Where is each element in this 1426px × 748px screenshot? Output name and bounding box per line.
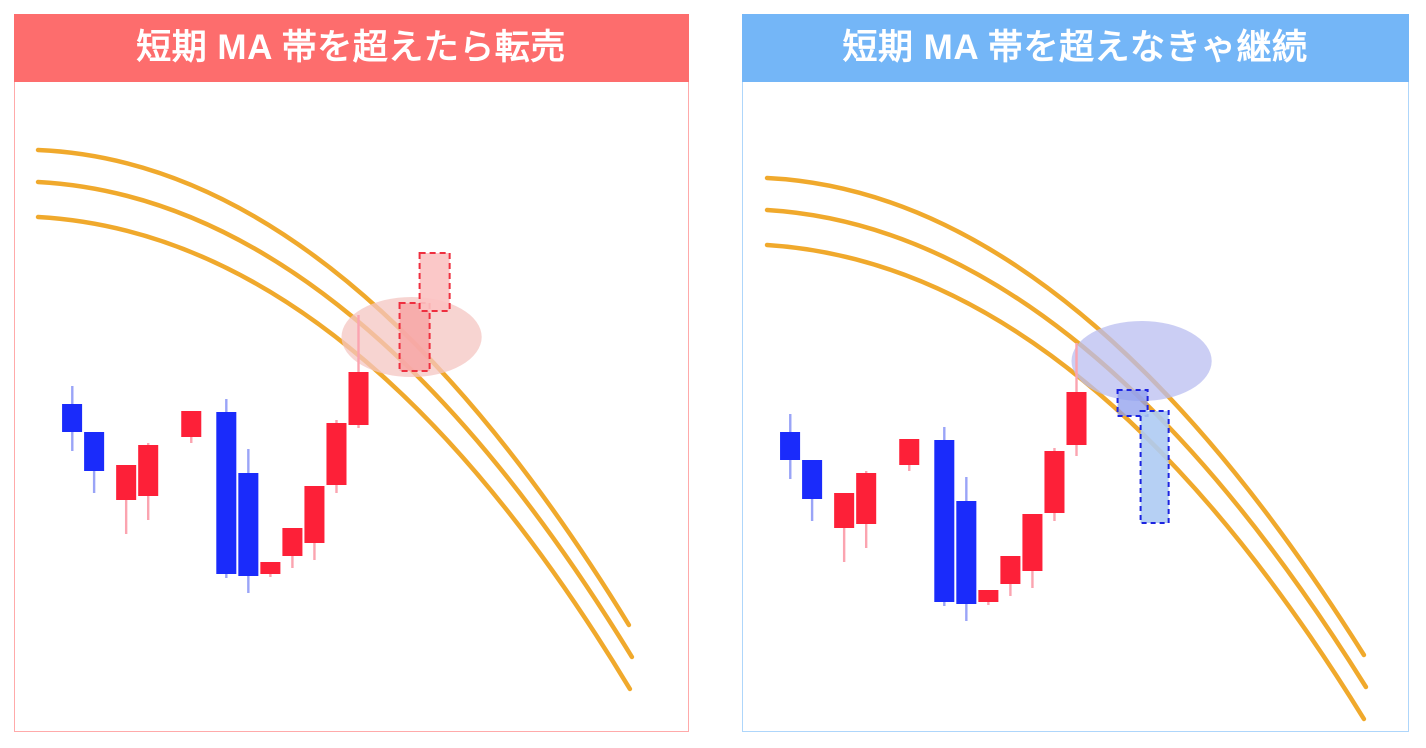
ma-line-mid-right	[767, 210, 1366, 687]
candle-10-bullish	[304, 486, 324, 560]
comparison-figure: 短期 MA 帯を超えたら転売	[0, 0, 1426, 748]
projected-candle-above-band-left	[420, 253, 450, 311]
candle-11-bullish	[1044, 448, 1064, 521]
candle-5-bullish	[899, 439, 919, 471]
candle-3-bullish	[116, 465, 136, 534]
candle-9-bullish	[282, 528, 302, 568]
panel-sell-on-breakout: 短期 MA 帯を超えたら転売	[14, 14, 689, 732]
panel-right-title: 短期 MA 帯を超えなきゃ継続	[742, 14, 1409, 82]
candle-series-left	[62, 315, 368, 593]
panel-hold-on-rejection: 短期 MA 帯を超えなきゃ継続	[742, 14, 1409, 732]
candle-7-bearish	[238, 449, 258, 593]
candle-3-bullish	[834, 493, 854, 562]
highlight-ellipse-right	[1071, 321, 1211, 401]
candle-5-bullish	[181, 411, 201, 443]
candlestick-chart-right	[743, 83, 1408, 731]
moving-average-band-right	[767, 178, 1366, 719]
projected-candle-in-band-left	[400, 303, 430, 371]
candle-4-bullish	[856, 471, 876, 548]
projected-candle-below-band-right	[1141, 411, 1169, 523]
moving-average-band-left	[38, 150, 632, 689]
ma-line-mid-left	[38, 182, 632, 657]
candle-10-bullish	[1022, 514, 1042, 588]
candle-7-bearish	[956, 477, 976, 621]
candle-11-bullish	[326, 420, 346, 493]
candle-6-bearish	[934, 427, 954, 606]
chart-svg-left	[15, 83, 688, 731]
panel-left-title: 短期 MA 帯を超えたら転売	[14, 14, 689, 82]
candle-1-bearish	[62, 386, 82, 451]
candle-6-bearish	[216, 399, 236, 578]
candle-1-bearish	[780, 414, 800, 479]
candle-9-bullish	[1000, 556, 1020, 596]
candle-2-bearish	[84, 432, 104, 493]
chart-svg-right	[743, 83, 1408, 731]
candle-2-bearish	[802, 460, 822, 521]
candle-8-bullish	[260, 562, 280, 577]
candle-8-bullish	[978, 590, 998, 605]
candlestick-chart-left	[15, 83, 688, 731]
candle-series-right	[780, 343, 1086, 621]
candle-4-bullish	[138, 443, 158, 520]
